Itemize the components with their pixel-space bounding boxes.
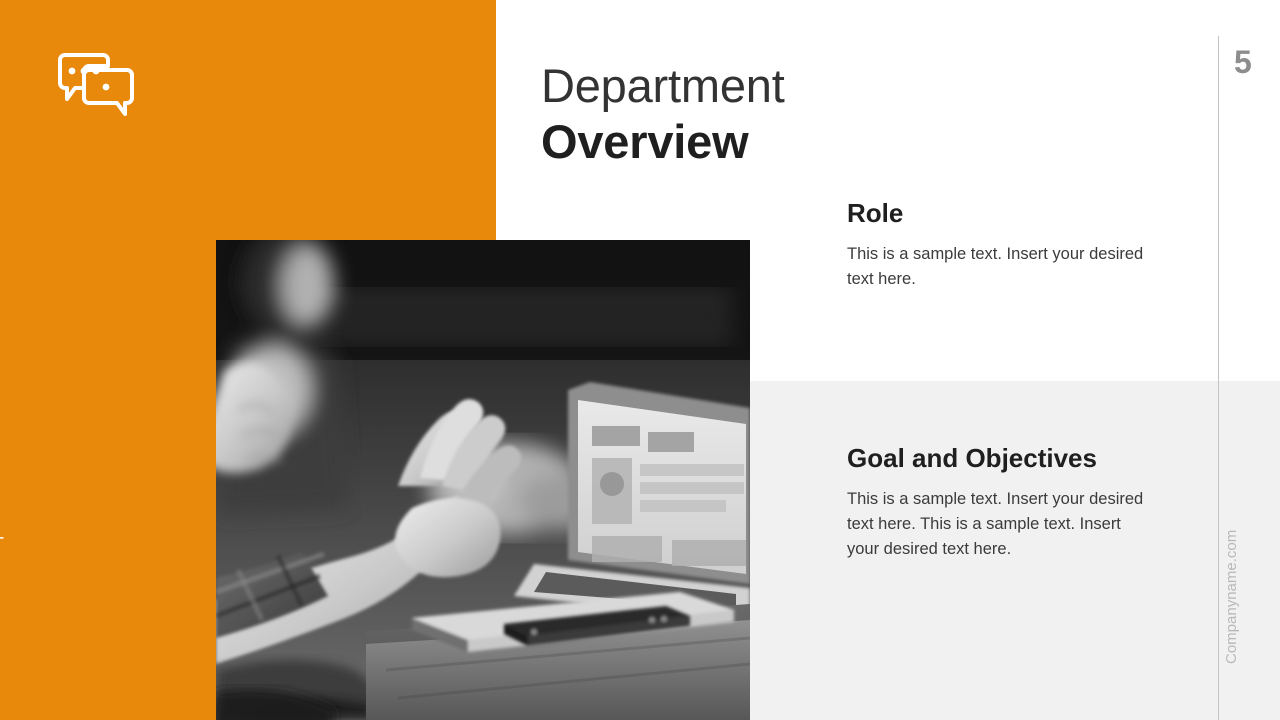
goal-heading: Goal and Objectives <box>847 437 1147 479</box>
page-number: 5 <box>1234 46 1252 78</box>
goal-body: This is a sample text. Insert your desir… <box>847 487 1147 562</box>
chat-bubbles-icon <box>58 50 136 118</box>
content-block-goal: Goal and Objectives This is a sample tex… <box>847 437 1147 562</box>
company-url: Companyname.com <box>1223 530 1240 664</box>
page-title-line-2: Overview <box>541 114 785 170</box>
role-body: This is a sample text. Insert your desir… <box>847 242 1147 292</box>
meeting-photo <box>216 240 750 720</box>
sidebar-caption: Interview PowerPoint Template <box>0 366 42 666</box>
vertical-divider <box>1218 36 1219 720</box>
sidebar-caption-line-2: PowerPoint Template <box>0 366 6 666</box>
slide-canvas: Interview PowerPoint Template <box>0 0 1280 720</box>
page-title: Department Overview <box>541 58 785 170</box>
content-block-role: Role This is a sample text. Insert your … <box>847 192 1147 292</box>
role-heading: Role <box>847 192 1147 234</box>
page-title-line-1: Department <box>541 58 785 114</box>
